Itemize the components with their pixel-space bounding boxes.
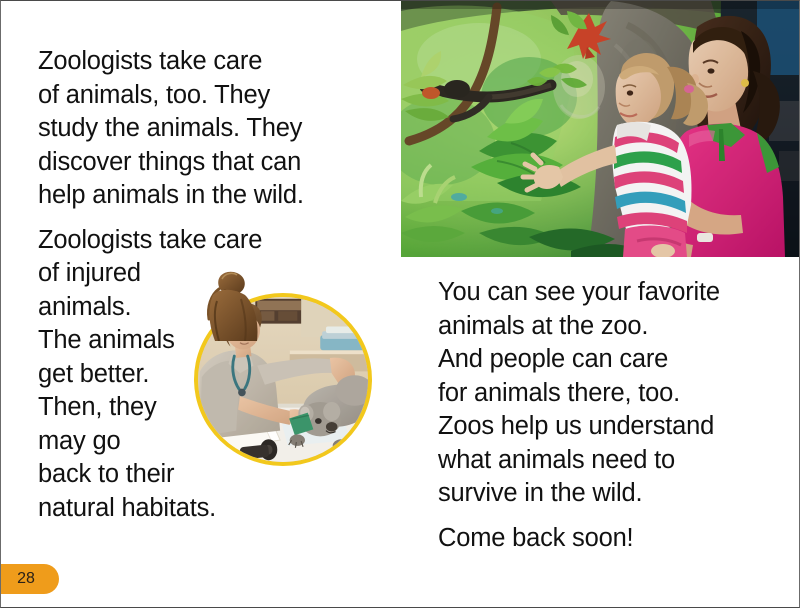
line: may go <box>38 427 120 455</box>
line: of injured <box>38 259 141 287</box>
line: The animals <box>38 326 175 354</box>
line: Zoologists take care <box>38 226 262 254</box>
paragraph: Zoologists take care of animals, too. Th… <box>38 45 368 213</box>
line: help animals in the wild. <box>38 181 304 209</box>
line: And people can care <box>438 345 668 373</box>
line: natural habitats. <box>38 494 216 522</box>
line: for animals there, too. <box>438 379 680 407</box>
line: Come back soon! <box>438 524 633 552</box>
page-number-badge-left: 28 <box>0 564 59 594</box>
line: animals. <box>38 293 131 321</box>
vet-photo-wrapper <box>181 269 381 469</box>
book-spread: Zoologists take care of animals, too. Th… <box>0 0 800 608</box>
line: of animals, too. They <box>38 81 270 109</box>
left-page: Zoologists take care of animals, too. Th… <box>1 1 401 608</box>
right-page-text: You can see your favorite animals at the… <box>438 276 778 555</box>
line: back to their <box>38 460 174 488</box>
line: discover things that can <box>38 148 301 176</box>
vet-treating-koala-circle-photo <box>194 293 372 466</box>
line: survive in the wild. <box>438 479 642 507</box>
line: Then, they <box>38 393 157 421</box>
line: get better. <box>38 360 149 388</box>
line: Zoos help us understand <box>438 412 714 440</box>
line: Zoologists take care <box>38 47 262 75</box>
line: animals at the zoo. <box>438 312 648 340</box>
line: what animals need to <box>438 446 675 474</box>
paragraph: Come back soon! <box>438 522 778 556</box>
paragraph: You can see your favorite animals at the… <box>438 276 778 511</box>
line: study the animals. They <box>38 114 302 142</box>
mother-and-child-at-zoo-terrarium-photo <box>401 1 800 257</box>
line: You can see your favorite <box>438 278 720 306</box>
